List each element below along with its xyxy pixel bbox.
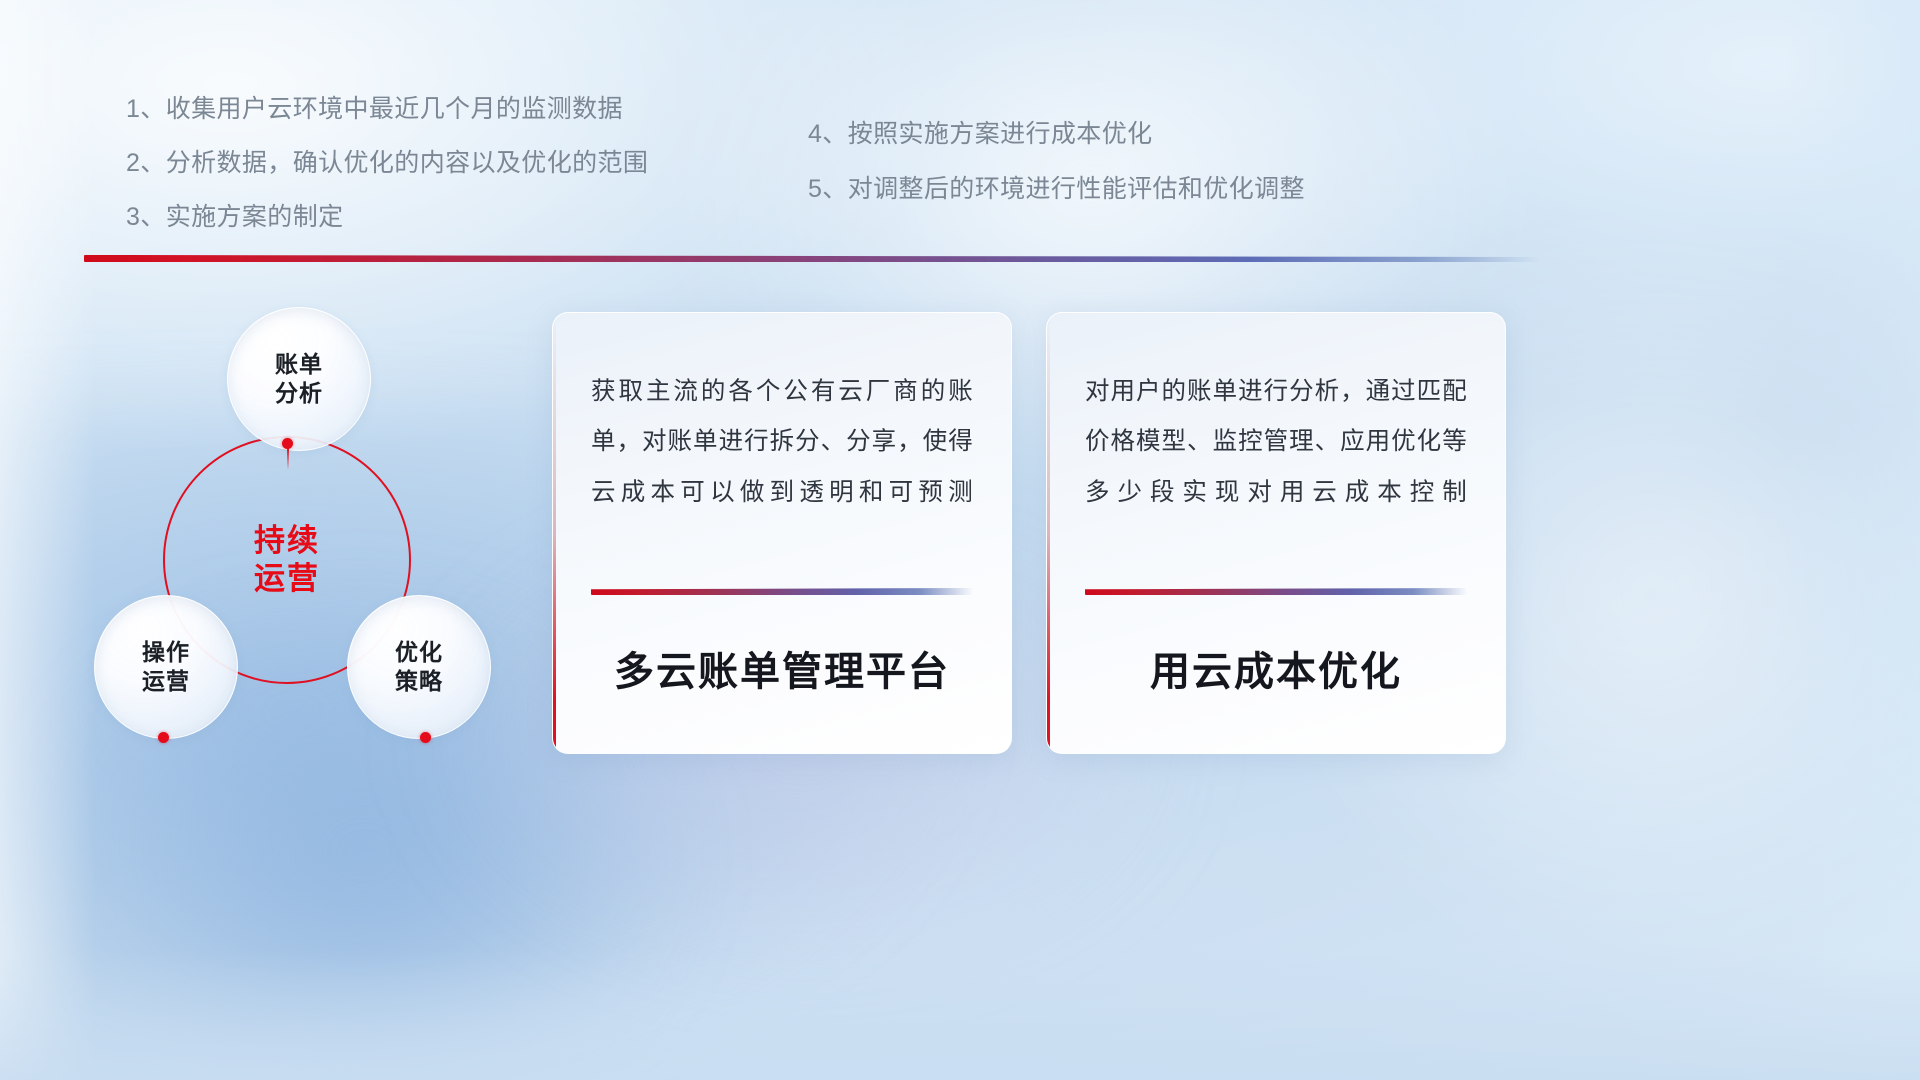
diagram-connector-tail-top	[287, 448, 289, 470]
card-divider	[591, 588, 973, 595]
card-divider	[1085, 588, 1467, 595]
continuous-operation-diagram: 持续 运营 账单 分析 操作 运营 优化 策略	[80, 290, 550, 770]
bubble-label-line1: 账单	[275, 350, 323, 379]
card-body-text: 对用户的账单进行分析，通过匹配价格模型、监控管理、应用优化等多少段实现对用云成本…	[1085, 367, 1467, 518]
card-title: 多云账单管理平台	[591, 595, 973, 753]
diagram-bubble-bill-analysis[interactable]: 账单 分析	[227, 307, 371, 451]
diagram-center-label-group: 持续 运营	[163, 436, 411, 684]
diagram-center-label-line2: 运营	[254, 560, 320, 598]
process-step-item: 1、收集用户云环境中最近几个月的监测数据	[126, 97, 648, 122]
background-edge-right	[1786, 0, 1920, 1080]
background-bottom-band	[0, 950, 1920, 1080]
card-body-text: 获取主流的各个公有云厂商的账单，对账单进行拆分、分享，使得云成本可以做到透明和可…	[591, 367, 973, 518]
card-cloud-cost-optimization[interactable]: 对用户的账单进行分析，通过匹配价格模型、监控管理、应用优化等多少段实现对用云成本…	[1046, 312, 1506, 754]
diagram-node-dot-top	[282, 438, 293, 449]
process-step-item: 5、对调整后的环境进行性能评估和优化调整	[808, 177, 1305, 202]
bubble-label-line2: 分析	[275, 379, 323, 408]
process-step-item: 4、按照实施方案进行成本优化	[808, 122, 1305, 147]
process-steps-left-column: 1、收集用户云环境中最近几个月的监测数据 2、分析数据，确认优化的内容以及优化的…	[126, 97, 648, 259]
card-multicloud-billing-platform[interactable]: 获取主流的各个公有云厂商的账单，对账单进行拆分、分享，使得云成本可以做到透明和可…	[552, 312, 1012, 754]
diagram-node-dot-left	[158, 732, 169, 743]
card-title: 用云成本优化	[1085, 595, 1467, 753]
diagram-center-label-line1: 持续	[254, 522, 320, 560]
process-steps-right-column: 4、按照实施方案进行成本优化 5、对调整后的环境进行性能评估和优化调整	[808, 122, 1305, 232]
process-step-item: 2、分析数据，确认优化的内容以及优化的范围	[126, 151, 648, 176]
process-step-item: 3、实施方案的制定	[126, 205, 648, 230]
diagram-node-dot-right	[420, 732, 431, 743]
